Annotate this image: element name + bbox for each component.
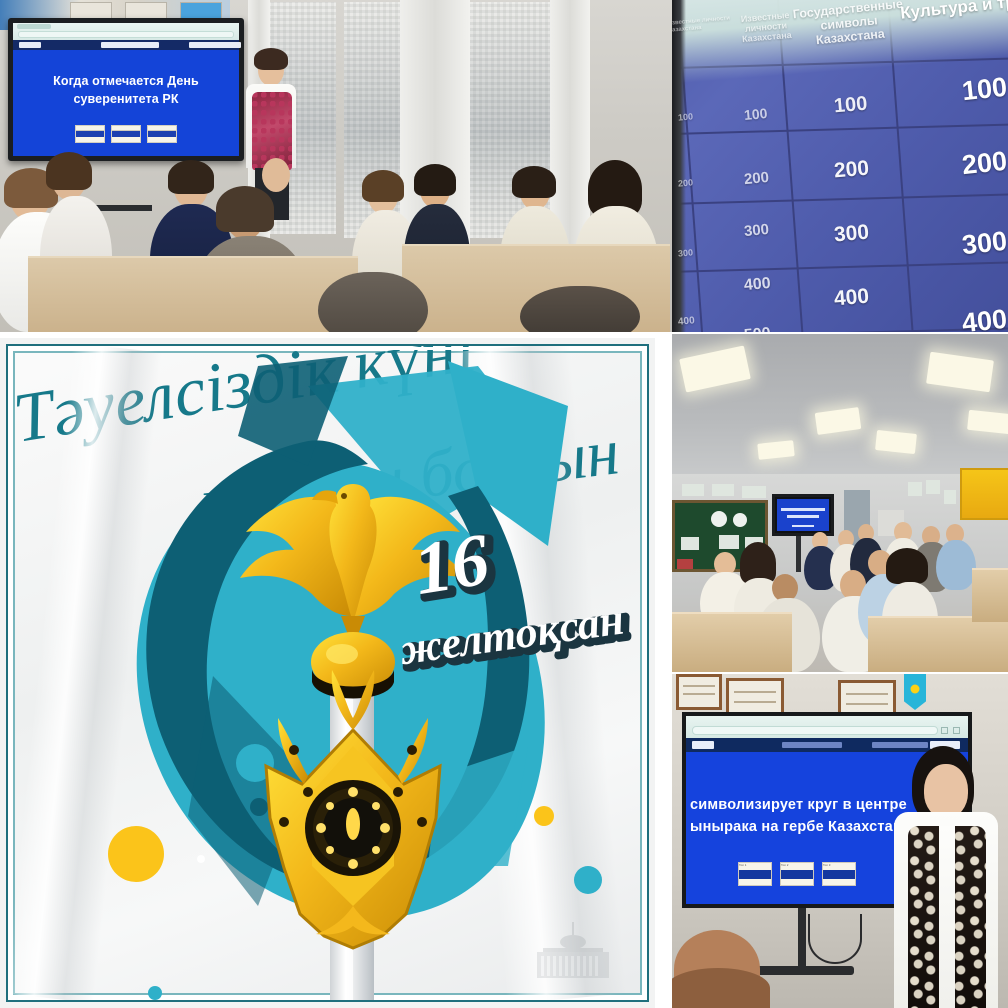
board-cell-value[interactable]: 100 bbox=[743, 105, 768, 123]
classroom-table bbox=[28, 256, 358, 332]
presenter-embroidered-vest bbox=[908, 826, 986, 1008]
quiz-logo bbox=[692, 741, 714, 749]
presenter-face bbox=[924, 764, 968, 818]
date-lettering: 16 16 желтоқсан желтоқсан bbox=[398, 508, 649, 698]
menu-icon[interactable] bbox=[953, 727, 960, 734]
quiz-question-text: Когда отмечается День суверенитета РК bbox=[23, 72, 229, 108]
display-base bbox=[754, 966, 854, 975]
classroom-desk bbox=[672, 612, 792, 672]
team-card[interactable]: Топ 3 bbox=[822, 862, 856, 886]
display-screen bbox=[777, 499, 829, 531]
presenter-person bbox=[886, 746, 1004, 1008]
cyan-dot bbox=[574, 866, 602, 894]
quiz-topbar bbox=[13, 40, 239, 50]
board-cell-value[interactable]: 300 bbox=[961, 226, 1008, 262]
photo-top-classroom: Когда отмечается День суверенитета РК bbox=[0, 0, 672, 332]
board-cell-value[interactable]: 100 bbox=[678, 111, 694, 122]
student-hair bbox=[362, 170, 404, 202]
board-cell-value[interactable]: 500 bbox=[743, 325, 771, 332]
student-hair bbox=[886, 548, 928, 584]
screen-edge-shadow bbox=[672, 0, 686, 332]
wall-frame bbox=[726, 678, 784, 716]
photo-presenter: символизирует круг в центре ынырака на г… bbox=[672, 674, 1008, 1008]
browser-chrome bbox=[686, 716, 968, 738]
board-cell-value[interactable]: 200 bbox=[678, 177, 694, 188]
independence-day-poster: 16 16 желтоқсан желтоқсан Тәуелсіздік кү… bbox=[0, 338, 655, 1008]
student-hair bbox=[512, 166, 556, 198]
wall-card bbox=[712, 484, 734, 496]
date-number: 16 bbox=[409, 518, 495, 611]
team-card-label: Топ 2 bbox=[781, 863, 813, 870]
akorda-palace-watermark bbox=[513, 920, 633, 986]
board-cell-value[interactable]: 400 bbox=[961, 304, 1008, 332]
team-card-label: Топ 3 bbox=[823, 863, 855, 870]
board-cell-value[interactable]: 200 bbox=[833, 157, 870, 184]
team-score-cards bbox=[75, 125, 177, 143]
team-card-label: Топ 1 bbox=[739, 863, 771, 870]
wall-card bbox=[908, 482, 922, 496]
board-cell-value[interactable]: 400 bbox=[743, 275, 771, 295]
classroom-desk bbox=[868, 616, 1008, 672]
board-cell-value[interactable]: 100 bbox=[833, 93, 868, 119]
browser-url-bar bbox=[18, 31, 234, 38]
wall-card bbox=[742, 486, 766, 498]
yellow-wall-board bbox=[960, 468, 1008, 520]
teacher-hair bbox=[254, 48, 288, 70]
student-hair bbox=[414, 164, 456, 196]
board-cell-value[interactable]: 400 bbox=[678, 315, 696, 327]
quiz-slide: Когда отмечается День суверенитета РК bbox=[13, 50, 239, 156]
wall-card bbox=[926, 480, 940, 494]
bookmark-icon[interactable] bbox=[941, 727, 948, 734]
board-cell-value[interactable]: 200 bbox=[743, 169, 769, 188]
board-cell-value[interactable]: 100 bbox=[961, 72, 1008, 108]
student-hair bbox=[168, 160, 214, 194]
browser-tab bbox=[17, 24, 51, 29]
quiz-title bbox=[782, 742, 842, 748]
display-pole bbox=[796, 536, 801, 572]
team-card[interactable]: Топ 1 bbox=[738, 862, 772, 886]
wall-frame bbox=[676, 674, 722, 710]
flag-sun bbox=[911, 685, 920, 694]
team-card bbox=[111, 125, 141, 143]
team-card bbox=[147, 125, 177, 143]
display-cable bbox=[808, 914, 862, 964]
smartboard-display: Когда отмечается День суверенитета РК bbox=[8, 18, 244, 161]
photo-wide-classroom bbox=[672, 334, 1008, 672]
yellow-dot bbox=[108, 826, 164, 882]
white-dot bbox=[197, 855, 205, 863]
wall-card bbox=[944, 490, 956, 504]
student-shoulders-foreground bbox=[672, 968, 770, 1008]
board-cell-value[interactable]: 200 bbox=[961, 146, 1008, 182]
browser-url-bar[interactable] bbox=[692, 726, 938, 735]
classroom-desk bbox=[972, 568, 1008, 622]
browser-chrome bbox=[13, 23, 239, 40]
student-hair bbox=[46, 152, 92, 190]
cyan-dot bbox=[148, 986, 162, 1000]
student-body bbox=[936, 540, 976, 590]
board-cell-value[interactable]: 300 bbox=[678, 247, 694, 258]
board-cell-value[interactable]: 400 bbox=[833, 285, 870, 312]
photo-collage: Когда отмечается День суверенитета РК bbox=[0, 0, 1008, 1008]
team-card[interactable]: Топ 2 bbox=[780, 862, 814, 886]
team-card bbox=[75, 125, 105, 143]
yellow-dot bbox=[534, 806, 554, 826]
ceiling-lamp bbox=[875, 430, 917, 454]
photo-quiz-board: Известные личности Казахстана Известные … bbox=[672, 0, 1008, 332]
student-head bbox=[262, 158, 290, 192]
display-pole bbox=[798, 908, 806, 966]
board-cell-value[interactable]: 300 bbox=[833, 221, 870, 248]
board-cell-value[interactable]: 300 bbox=[743, 221, 769, 240]
poster-frame: 16 16 желтоқсан желтоқсан Тәуелсіздік кү… bbox=[6, 344, 649, 1002]
classroom-display bbox=[772, 494, 834, 536]
student-hair bbox=[216, 186, 274, 232]
team-score-cards: Топ 1 Топ 2 Топ 3 bbox=[738, 862, 856, 886]
wall-card bbox=[682, 484, 704, 496]
